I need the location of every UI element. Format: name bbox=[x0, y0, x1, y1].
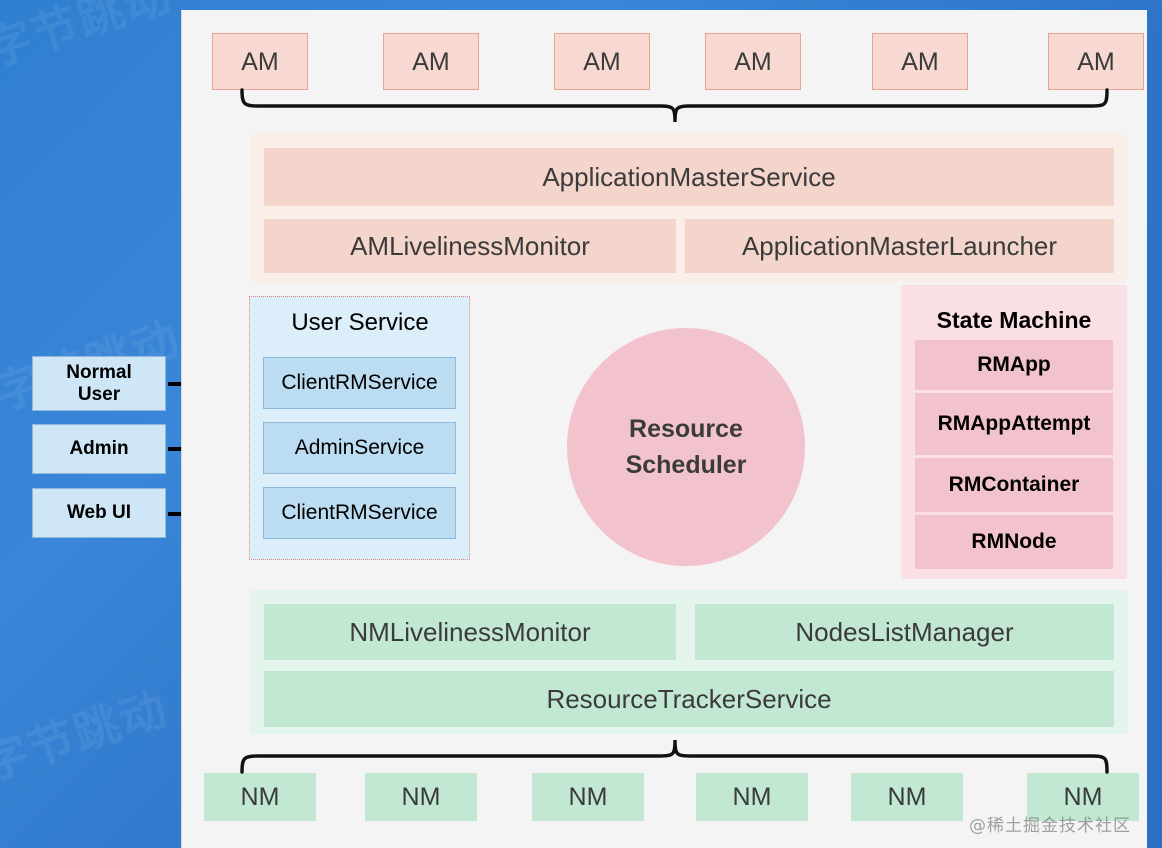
actor-web-ui[interactable]: Web UI bbox=[32, 488, 166, 538]
user-service-panel-title: User Service bbox=[285, 310, 435, 335]
diagram-stage: 字节跳动 字节跳动 字节跳动 Normal User Admin Web UI … bbox=[0, 0, 1162, 848]
actor-normal-user[interactable]: Normal User bbox=[32, 356, 166, 411]
am-box[interactable]: AM bbox=[705, 33, 801, 90]
nm-label: NM bbox=[569, 783, 608, 811]
nm-label: NM bbox=[888, 783, 927, 811]
state-machine-item-rmnode[interactable]: RMNode bbox=[915, 515, 1113, 569]
nm-box[interactable]: NM bbox=[204, 773, 316, 821]
background-watermark: 字节跳动 bbox=[0, 672, 175, 794]
state-machine-item-rmcontainer[interactable]: RMContainer bbox=[915, 458, 1113, 512]
client-rm-service-box[interactable]: ClientRMService bbox=[263, 487, 456, 539]
sm-label: RMApp bbox=[977, 353, 1050, 376]
am-liveliness-monitor-bar[interactable]: AMLivelinessMonitor bbox=[264, 219, 676, 273]
nm-box[interactable]: NM bbox=[851, 773, 963, 821]
bar-label: NodesListManager bbox=[795, 617, 1013, 648]
svc-label: ClientRMService bbox=[281, 502, 437, 525]
actor-label: Admin bbox=[69, 438, 128, 459]
state-machine-item-rmapp[interactable]: RMApp bbox=[915, 340, 1113, 390]
bar-label: AMLivelinessMonitor bbox=[350, 231, 590, 262]
state-machine-title: State Machine bbox=[934, 308, 1094, 332]
sm-label: RMAppAttempt bbox=[932, 412, 1097, 435]
am-label: AM bbox=[734, 48, 772, 76]
am-label: AM bbox=[241, 48, 279, 76]
nm-label: NM bbox=[402, 783, 441, 811]
am-label: AM bbox=[412, 48, 450, 76]
bar-label: ApplicationMasterLauncher bbox=[742, 231, 1057, 262]
corner-watermark: @稀土掘金技术社区 bbox=[969, 811, 1131, 836]
nm-box[interactable]: NM bbox=[696, 773, 808, 821]
am-box[interactable]: AM bbox=[872, 33, 968, 90]
bar-label: ResourceTrackerService bbox=[546, 684, 831, 715]
sm-label: RMNode bbox=[971, 530, 1056, 553]
resource-tracker-service-bar[interactable]: ResourceTrackerService bbox=[264, 671, 1114, 727]
diagram-canvas: AM AM AM AM AM AM ApplicationMasterServi… bbox=[181, 10, 1147, 848]
am-label: AM bbox=[901, 48, 939, 76]
nm-label: NM bbox=[1064, 783, 1103, 811]
scheduler-label: Resource Scheduler bbox=[606, 411, 766, 484]
am-box[interactable]: AM bbox=[383, 33, 479, 90]
bar-label: ApplicationMasterService bbox=[542, 162, 835, 193]
nm-label: NM bbox=[733, 783, 772, 811]
background-watermark: 字节跳动 bbox=[0, 0, 179, 80]
nm-label: NM bbox=[241, 783, 280, 811]
am-box[interactable]: AM bbox=[1048, 33, 1144, 90]
sm-label: RMContainer bbox=[949, 473, 1080, 496]
am-box[interactable]: AM bbox=[554, 33, 650, 90]
nm-liveliness-monitor-bar[interactable]: NMLivelinessMonitor bbox=[264, 604, 676, 660]
am-label: AM bbox=[1077, 48, 1115, 76]
bar-label: NMLivelinessMonitor bbox=[349, 617, 590, 648]
client-rm-service-box[interactable]: ClientRMService bbox=[263, 357, 456, 409]
application-master-service-bar[interactable]: ApplicationMasterService bbox=[264, 148, 1114, 206]
panel-title-label: User Service bbox=[291, 309, 428, 336]
svc-label: ClientRMService bbox=[281, 372, 437, 395]
nm-box[interactable]: NM bbox=[365, 773, 477, 821]
nodes-list-manager-bar[interactable]: NodesListManager bbox=[695, 604, 1114, 660]
actor-label: Normal User bbox=[66, 362, 131, 405]
actor-admin[interactable]: Admin bbox=[32, 424, 166, 474]
am-label: AM bbox=[583, 48, 621, 76]
panel-title-label: State Machine bbox=[937, 307, 1092, 333]
admin-service-box[interactable]: AdminService bbox=[263, 422, 456, 474]
actor-label: Web UI bbox=[67, 502, 131, 523]
application-master-launcher-bar[interactable]: ApplicationMasterLauncher bbox=[685, 219, 1114, 273]
nm-box[interactable]: NM bbox=[532, 773, 644, 821]
am-box[interactable]: AM bbox=[212, 33, 308, 90]
resource-scheduler-circle[interactable]: Resource Scheduler bbox=[567, 328, 805, 566]
svc-label: AdminService bbox=[295, 437, 425, 460]
state-machine-item-rmappattempt[interactable]: RMAppAttempt bbox=[915, 393, 1113, 455]
